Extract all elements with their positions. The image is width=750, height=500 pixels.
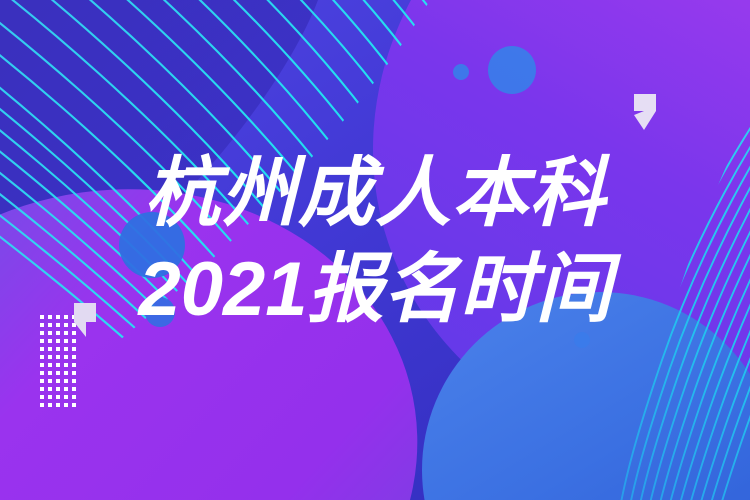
quote-close-icon bbox=[632, 94, 658, 130]
blue-circle-behind-two bbox=[119, 212, 185, 278]
banner-canvas: 杭州成人本科 2021报名时间 bbox=[0, 0, 750, 500]
blue-circle-small-left bbox=[145, 297, 175, 327]
blue-dot-small-bottom bbox=[574, 332, 590, 348]
quote-open-icon bbox=[72, 303, 98, 337]
dot-grid-pattern bbox=[40, 315, 76, 407]
blue-circle-large-top bbox=[488, 46, 536, 94]
blue-dot-small-top bbox=[453, 64, 469, 80]
banner-background-art bbox=[0, 0, 750, 500]
